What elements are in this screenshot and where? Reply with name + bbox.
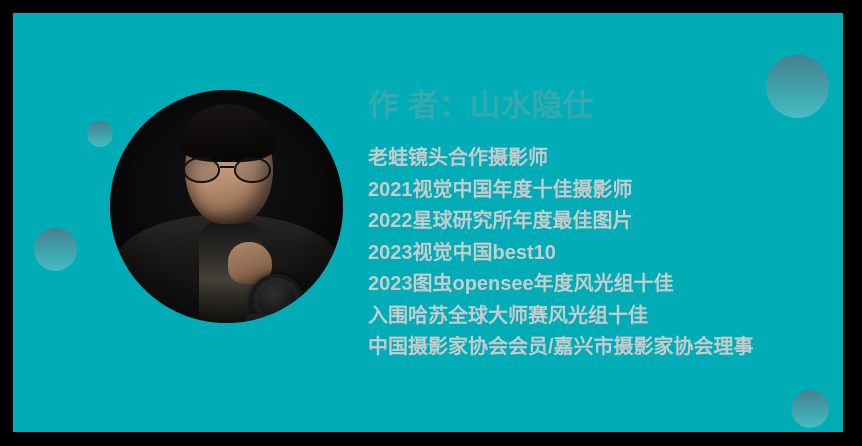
glasses-left-lens <box>183 157 220 183</box>
glasses-bridge <box>220 166 234 168</box>
credential-line: 2022星球研究所年度最佳图片 <box>368 206 828 238</box>
author-info-column: 作 者：山水隐仕 老蛙镜头合作摄影师2021视觉中国年度十佳摄影师2022星球研… <box>368 86 828 364</box>
decorative-bubble-left-mid <box>34 228 77 271</box>
credentials-list: 老蛙镜头合作摄影师2021视觉中国年度十佳摄影师2022星球研究所年度最佳图片2… <box>368 143 828 364</box>
teal-card-surface: 作 者：山水隐仕 老蛙镜头合作摄影师2021视觉中国年度十佳摄影师2022星球研… <box>13 13 843 432</box>
decorative-bubble-bottom-right <box>791 390 829 428</box>
credential-line: 2023图虫opensee年度风光组十佳 <box>368 269 828 301</box>
credential-line: 老蛙镜头合作摄影师 <box>368 143 828 175</box>
portrait-glasses <box>181 157 273 179</box>
credential-line: 中国摄影家协会会员/嘉兴市摄影家协会理事 <box>368 332 828 364</box>
author-profile-card: 作 者：山水隐仕 老蛙镜头合作摄影师2021视觉中国年度十佳摄影师2022星球研… <box>0 0 862 446</box>
camera-body <box>245 314 287 323</box>
credential-line: 入围哈苏全球大师赛风光组十佳 <box>368 301 828 333</box>
credential-line: 2021视觉中国年度十佳摄影师 <box>368 175 828 207</box>
author-portrait-photo <box>110 90 343 323</box>
author-title: 作 者：山水隐仕 <box>368 86 828 126</box>
credential-line: 2023视觉中国best10 <box>368 238 828 270</box>
glasses-right-lens <box>234 157 271 183</box>
